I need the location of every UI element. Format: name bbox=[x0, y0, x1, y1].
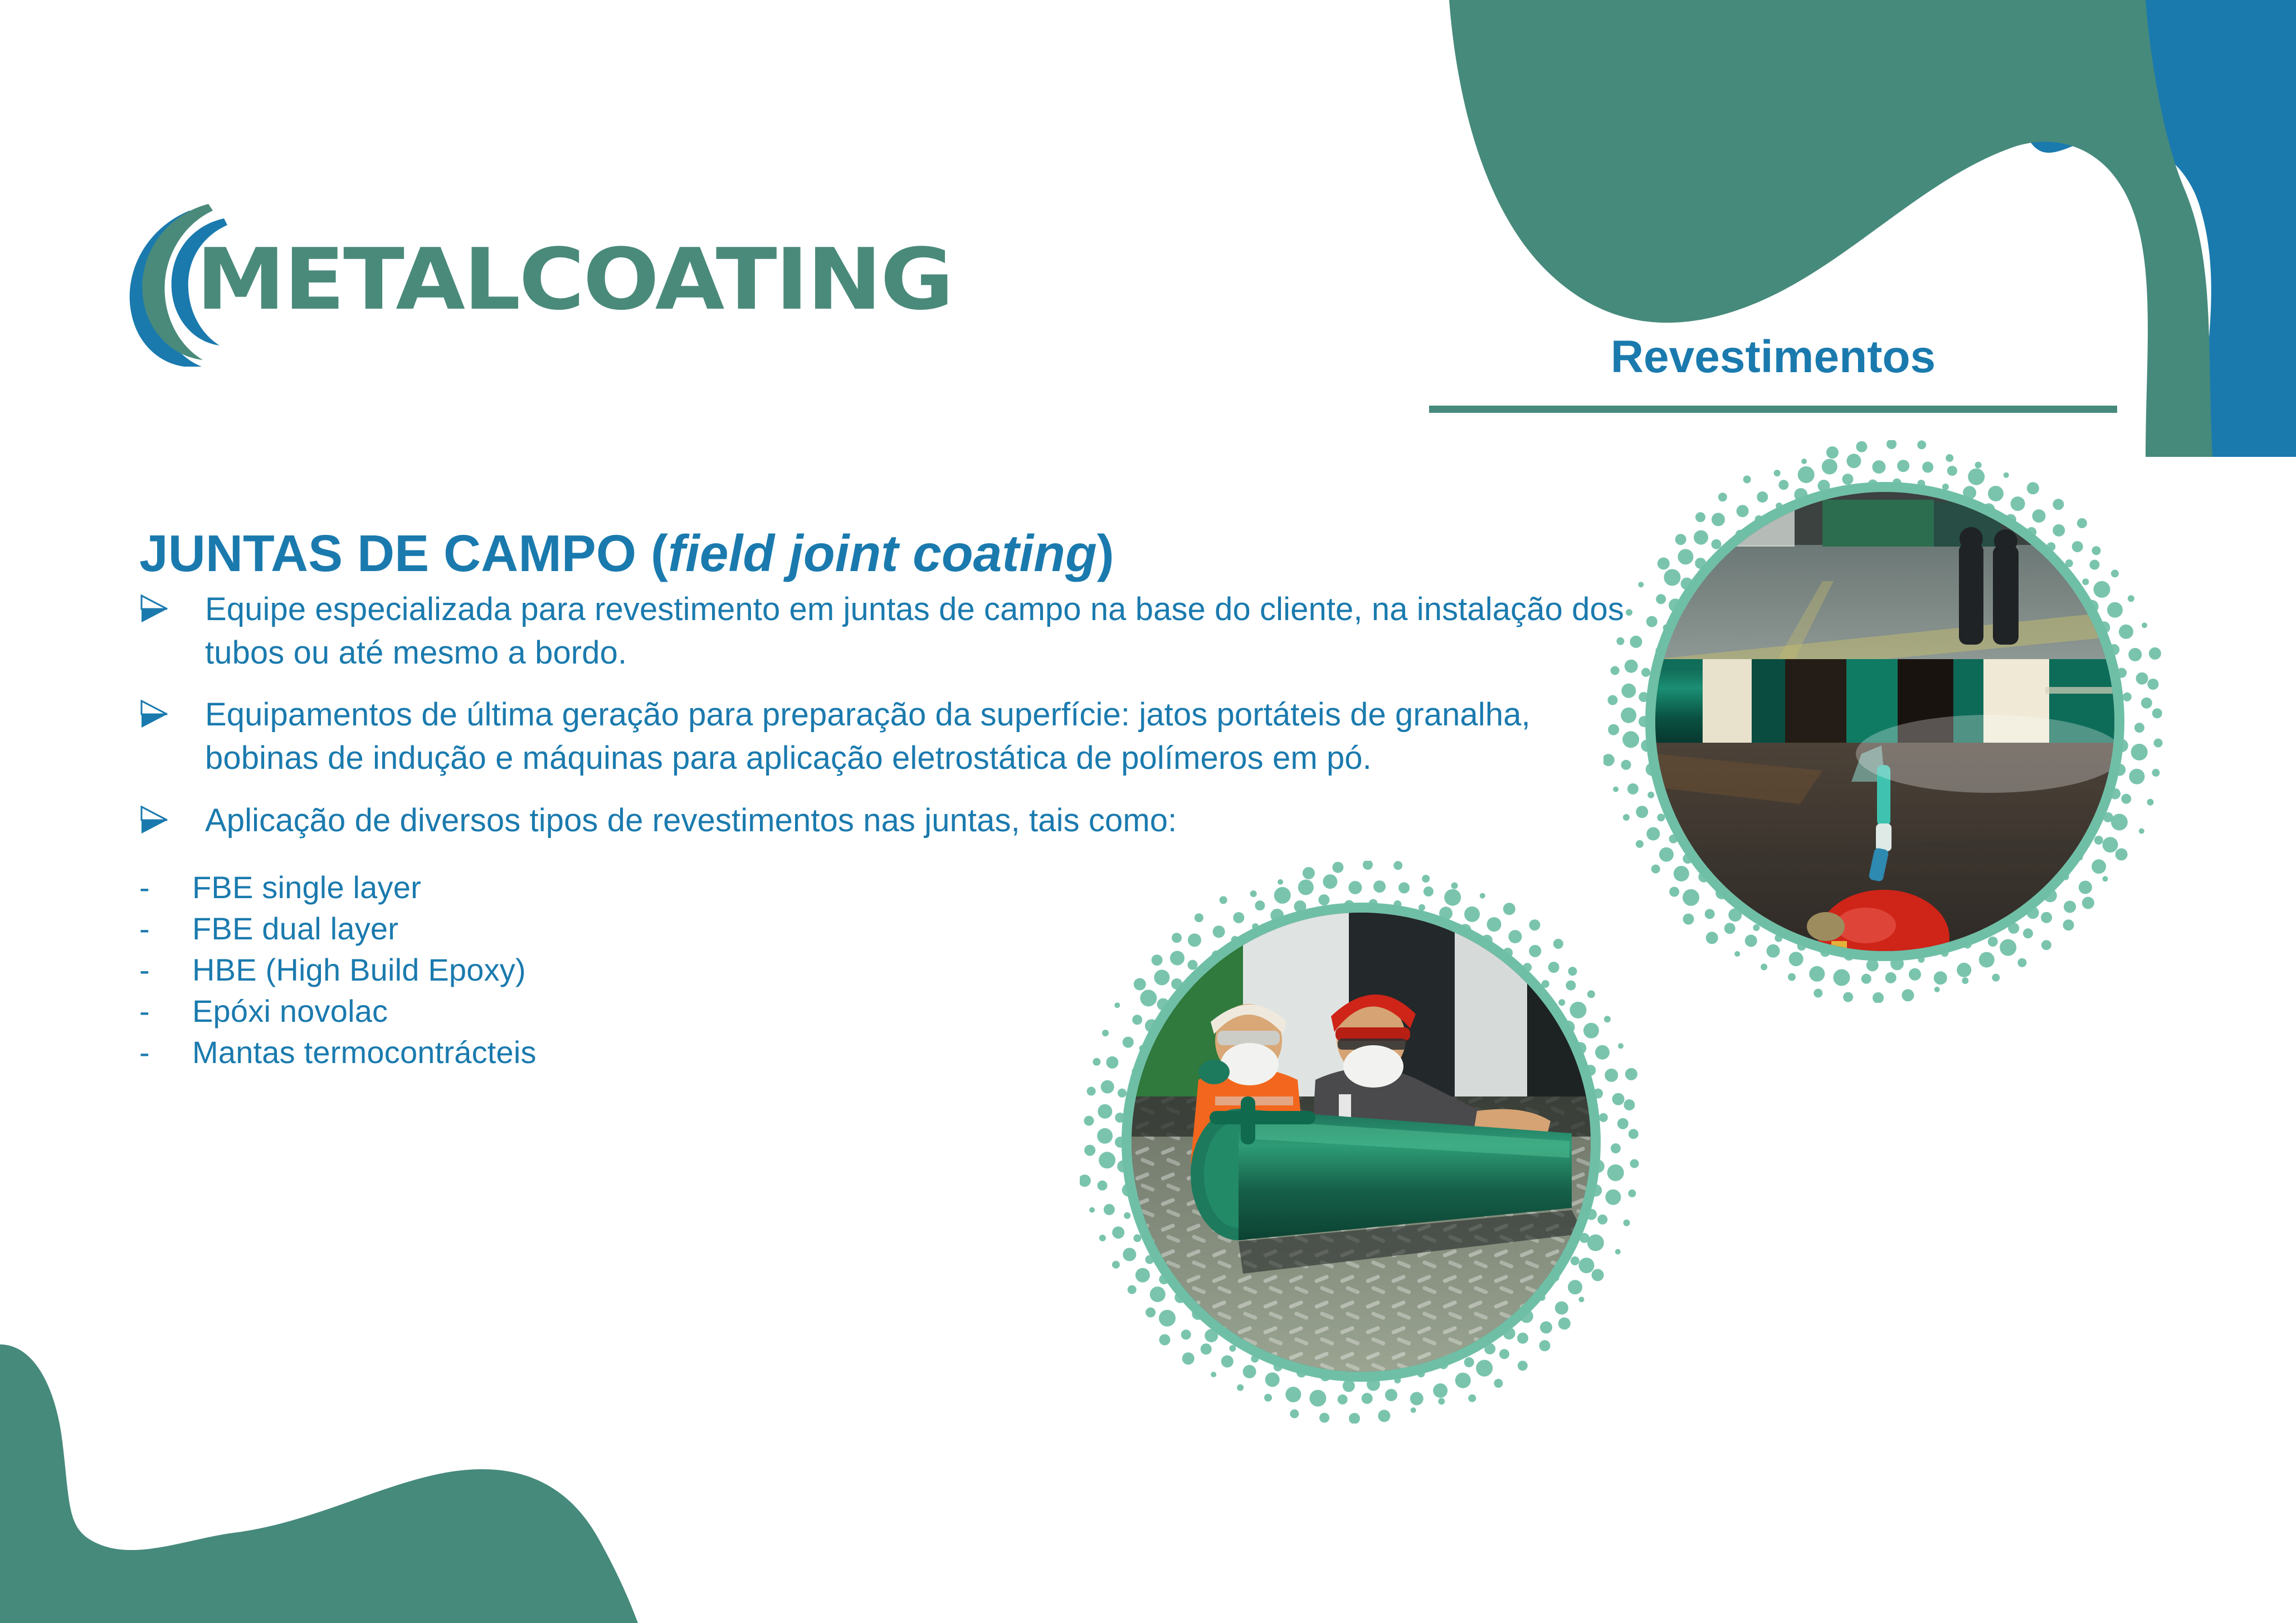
list-item-text: HBE (High Build Epoxy) bbox=[192, 954, 919, 986]
decoration-top-right bbox=[1405, 0, 2296, 457]
logo-wordmark: METALCOATING bbox=[196, 237, 952, 322]
photo-frame bbox=[1645, 482, 2124, 961]
company-logo: METALCOATING bbox=[124, 199, 948, 367]
list-item-text: FBE dual layer bbox=[192, 913, 919, 944]
list-item: Aplicação de diversos tipos de revestime… bbox=[139, 799, 1632, 842]
list-item: - FBE single layer bbox=[139, 872, 919, 913]
dash-marker: - bbox=[139, 913, 192, 944]
list-item: Equipamentos de última geração para prep… bbox=[139, 693, 1632, 779]
list-item: - Mantas termocontrácteis bbox=[139, 1037, 919, 1078]
section-title-underline bbox=[1429, 406, 2117, 413]
list-item-text: Equipe especializada para revestimento e… bbox=[205, 588, 1632, 674]
list-item-text: Epóxi novolac bbox=[192, 996, 919, 1027]
dash-marker: - bbox=[139, 996, 192, 1027]
photo-frame bbox=[1122, 903, 1601, 1382]
list-item: - Epóxi novolac bbox=[139, 996, 919, 1037]
dash-marker: - bbox=[139, 1037, 192, 1068]
page-title: JUNTAS DE CAMPO (field joint coating) bbox=[139, 525, 1114, 582]
list-item: Equipe especializada para revestimento e… bbox=[139, 588, 1632, 674]
page-title-suffix: ) bbox=[1097, 524, 1114, 582]
page-title-italic: field joint coating bbox=[668, 524, 1097, 582]
list-item-text: Mantas termocontrácteis bbox=[192, 1037, 919, 1068]
arrow-bullet-icon bbox=[139, 799, 205, 835]
page-title-prefix: JUNTAS DE CAMPO ( bbox=[139, 524, 668, 582]
dash-marker: - bbox=[139, 954, 192, 986]
list-item-text: FBE single layer bbox=[192, 872, 919, 903]
slide-canvas: METALCOATING Revestimentos JUNTAS DE CAM… bbox=[0, 0, 2296, 1623]
list-item: - HBE (High Build Epoxy) bbox=[139, 954, 919, 996]
bullet-list: Equipe especializada para revestimento e… bbox=[139, 588, 1632, 861]
photo-green-coated-pipe-inspection bbox=[1080, 861, 1642, 1424]
photo-image bbox=[1655, 492, 2114, 951]
list-item-text: Equipamentos de última geração para prep… bbox=[205, 693, 1632, 779]
photo-field-joint-blasting bbox=[1603, 440, 2166, 1003]
dash-list: - FBE single layer - FBE dual layer - HB… bbox=[139, 872, 919, 1078]
decoration-bottom-left bbox=[0, 1289, 641, 1623]
list-item-text: Aplicação de diversos tipos de revestime… bbox=[205, 799, 1632, 842]
arrow-bullet-icon bbox=[139, 588, 205, 623]
photo-image bbox=[1132, 913, 1591, 1372]
list-item: - FBE dual layer bbox=[139, 913, 919, 954]
dash-marker: - bbox=[139, 872, 192, 903]
arrow-bullet-icon bbox=[139, 693, 205, 729]
section-title: Revestimentos bbox=[1426, 334, 2120, 380]
